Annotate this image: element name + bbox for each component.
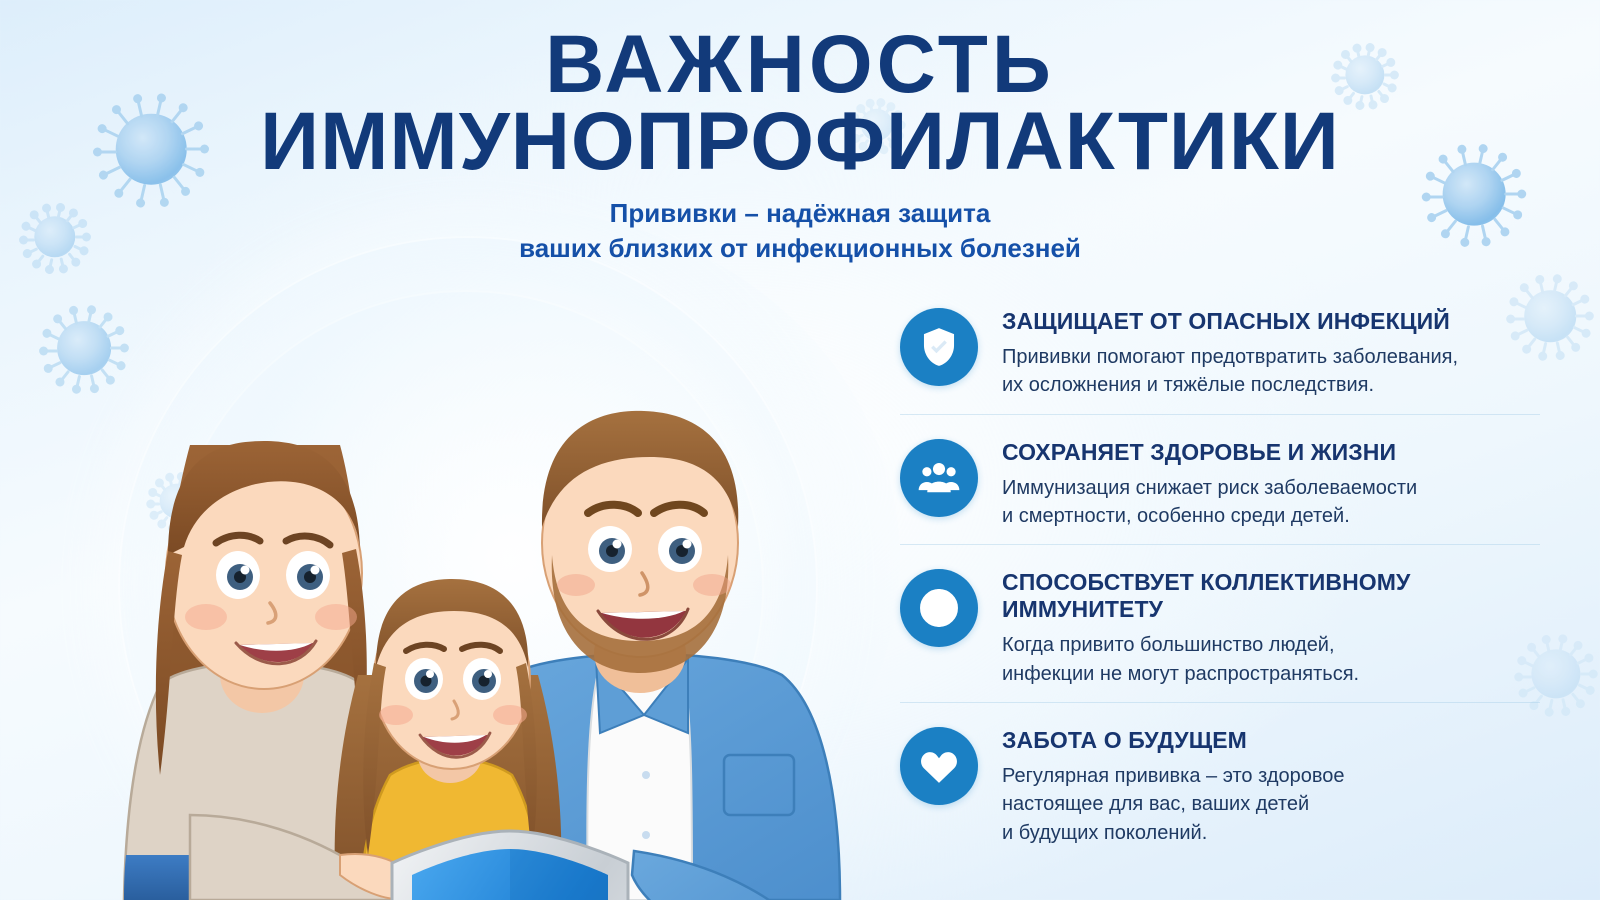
benefit-title: ЗАБОТА О БУДУЩЕМ [1002,727,1345,754]
benefit-item: СОХРАНЯЕТ ЗДОРОВЬЕ И ЖИЗНИ Иммунизация с… [900,414,1540,545]
benefit-text: СОХРАНЯЕТ ЗДОРОВЬЕ И ЖИЗНИ Иммунизация с… [1002,435,1417,531]
page-subtitle: Прививки – надёжная защита ваших близких… [0,196,1600,266]
benefit-text: ЗАЩИЩАЕТ ОТ ОПАСНЫХ ИНФЕКЦИЙ Прививки по… [1002,304,1458,400]
benefit-desc-line: Иммунизация снижает риск заболеваемости [1002,474,1417,502]
benefit-desc-line: Прививки помогают предотвратить заболева… [1002,343,1458,371]
benefit-title: ЗАЩИЩАЕТ ОТ ОПАСНЫХ ИНФЕКЦИЙ [1002,308,1458,335]
benefit-description: Прививки помогают предотвратить заболева… [1002,343,1458,400]
benefit-item: СПОСОБСТВУЕТ КОЛЛЕКТИВНОМУ ИММУНИТЕТУ Ко… [900,544,1540,702]
people-group-icon [900,439,978,517]
shield-check-icon [900,308,978,386]
benefit-desc-line: и будущих поколений. [1002,819,1345,847]
benefit-desc-line: Когда привито большинство людей, [1002,631,1540,659]
family-illustration [40,255,870,900]
page-title: ВАЖНОСТЬ ИММУНОПРОФИЛАКТИКИ [0,0,1600,180]
title-line-2: ИММУНОПРОФИЛАКТИКИ [0,103,1600,180]
benefit-desc-line: настоящее для вас, ваших детей [1002,790,1345,818]
benefits-list: ЗАЩИЩАЕТ ОТ ОПАСНЫХ ИНФЕКЦИЙ Прививки по… [900,296,1540,861]
benefit-text: ЗАБОТА О БУДУЩЕМ Регулярная прививка – э… [1002,723,1345,847]
subtitle-line-1: Прививки – надёжная защита [0,196,1600,231]
globe-icon [900,569,978,647]
benefit-item: ЗАБОТА О БУДУЩЕМ Регулярная прививка – э… [900,702,1540,861]
benefit-title: СОХРАНЯЕТ ЗДОРОВЬЕ И ЖИЗНИ [1002,439,1417,466]
benefit-desc-line: инфекции не могут распространяться. [1002,660,1540,688]
poster-header: ВАЖНОСТЬ ИММУНОПРОФИЛАКТИКИ Прививки – н… [0,0,1600,266]
subtitle-line-2: ваших близких от инфекционных болезней [0,231,1600,266]
benefit-desc-line: Регулярная прививка – это здоровое [1002,762,1345,790]
benefit-desc-line: и смертности, особенно среди детей. [1002,502,1417,530]
benefit-title: СПОСОБСТВУЕТ КОЛЛЕКТИВНОМУ ИММУНИТЕТУ [1002,569,1540,623]
benefit-description: Регулярная прививка – это здоровое насто… [1002,762,1345,847]
title-line-1: ВАЖНОСТЬ [0,0,1600,103]
benefit-description: Когда привито большинство людей, инфекци… [1002,631,1540,688]
benefit-description: Иммунизация снижает риск заболеваемости … [1002,474,1417,531]
benefit-item: ЗАЩИЩАЕТ ОТ ОПАСНЫХ ИНФЕКЦИЙ Прививки по… [900,296,1540,414]
benefit-text: СПОСОБСТВУЕТ КОЛЛЕКТИВНОМУ ИММУНИТЕТУ Ко… [1002,565,1540,688]
benefit-desc-line: их осложнения и тяжёлые последствия. [1002,371,1458,399]
heart-icon [900,727,978,805]
